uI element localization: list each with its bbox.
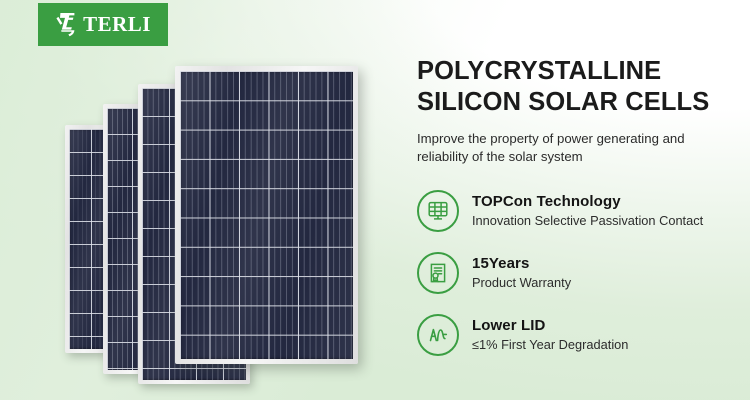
solar-panel-front: [175, 66, 358, 364]
solar-panel-icon: [417, 190, 459, 232]
hero-subtitle: Improve the property of power generating…: [417, 130, 737, 166]
feature-text-lower-lid: Lower LID ≤1% First Year Degradation: [472, 316, 628, 354]
wave-graph-icon: [417, 314, 459, 356]
feature-text-topcon: TOPCon Technology Innovation Selective P…: [472, 192, 703, 230]
feature-title: TOPCon Technology: [472, 192, 703, 211]
page-title: POLYCRYSTALLINE SILICON SOLAR CELLS: [417, 56, 737, 118]
feature-title: 15Years: [472, 254, 571, 273]
hero-subtitle-line1: Improve the property of power generating…: [417, 131, 685, 146]
feature-text-warranty: 15Years Product Warranty: [472, 254, 571, 292]
hero-content: POLYCRYSTALLINE SILICON SOLAR CELLS Impr…: [417, 56, 737, 358]
feature-item-lower-lid: Lower LID ≤1% First Year Degradation: [417, 311, 737, 358]
certificate-icon: [417, 252, 459, 294]
feature-subtitle: Innovation Selective Passivation Contact: [472, 212, 703, 230]
feature-list: TOPCon Technology Innovation Selective P…: [417, 187, 737, 358]
page-title-line2: SILICON SOLAR CELLS: [417, 88, 709, 116]
feature-item-warranty: 15Years Product Warranty: [417, 249, 737, 296]
page-title-line1: POLYCRYSTALLINE: [417, 57, 661, 85]
feature-subtitle: Product Warranty: [472, 274, 571, 292]
hero-subtitle-line2: reliability of the solar system: [417, 149, 583, 164]
feature-subtitle: ≤1% First Year Degradation: [472, 336, 628, 354]
feature-item-topcon: TOPCon Technology Innovation Selective P…: [417, 187, 737, 234]
feature-title: Lower LID: [472, 316, 628, 335]
polycrystalline-solar-panels: [0, 0, 420, 400]
product-banner: TERLI: [0, 0, 750, 400]
